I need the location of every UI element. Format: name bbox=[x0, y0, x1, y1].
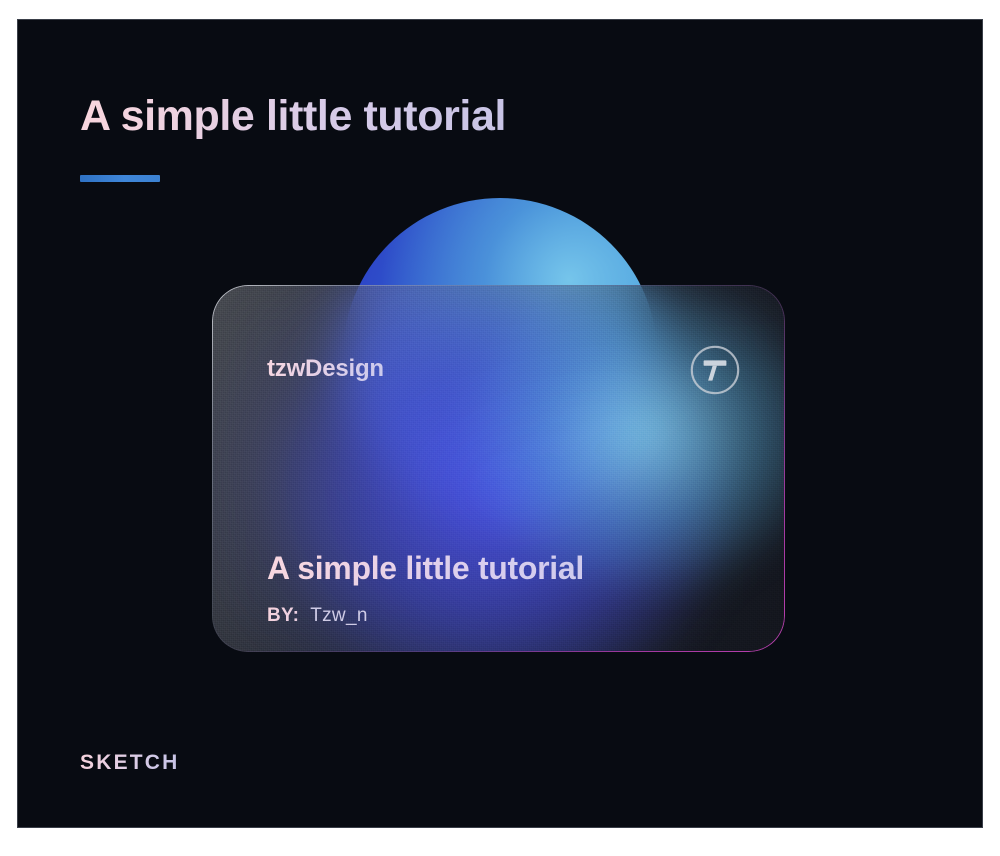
card-headline: A simple little tutorial bbox=[267, 550, 584, 587]
artboard: A simple little tutorial tzwDesign A sim… bbox=[18, 20, 982, 827]
card-brand-name: tzwDesign bbox=[267, 355, 384, 383]
glass-card[interactable]: tzwDesign A simple little tutorial BY:Tz… bbox=[212, 285, 785, 652]
card-byline-label: BY: bbox=[267, 605, 299, 626]
sketch-label: SKETCH bbox=[80, 751, 180, 775]
page-title: A simple little tutorial bbox=[80, 92, 506, 141]
card-byline-author: Tzw_n bbox=[310, 605, 367, 626]
t-monogram-circle-icon[interactable] bbox=[689, 344, 741, 396]
title-accent-rule bbox=[80, 175, 160, 182]
card-byline: BY:Tzw_n bbox=[267, 605, 368, 627]
card-content: tzwDesign A simple little tutorial BY:Tz… bbox=[212, 285, 785, 652]
